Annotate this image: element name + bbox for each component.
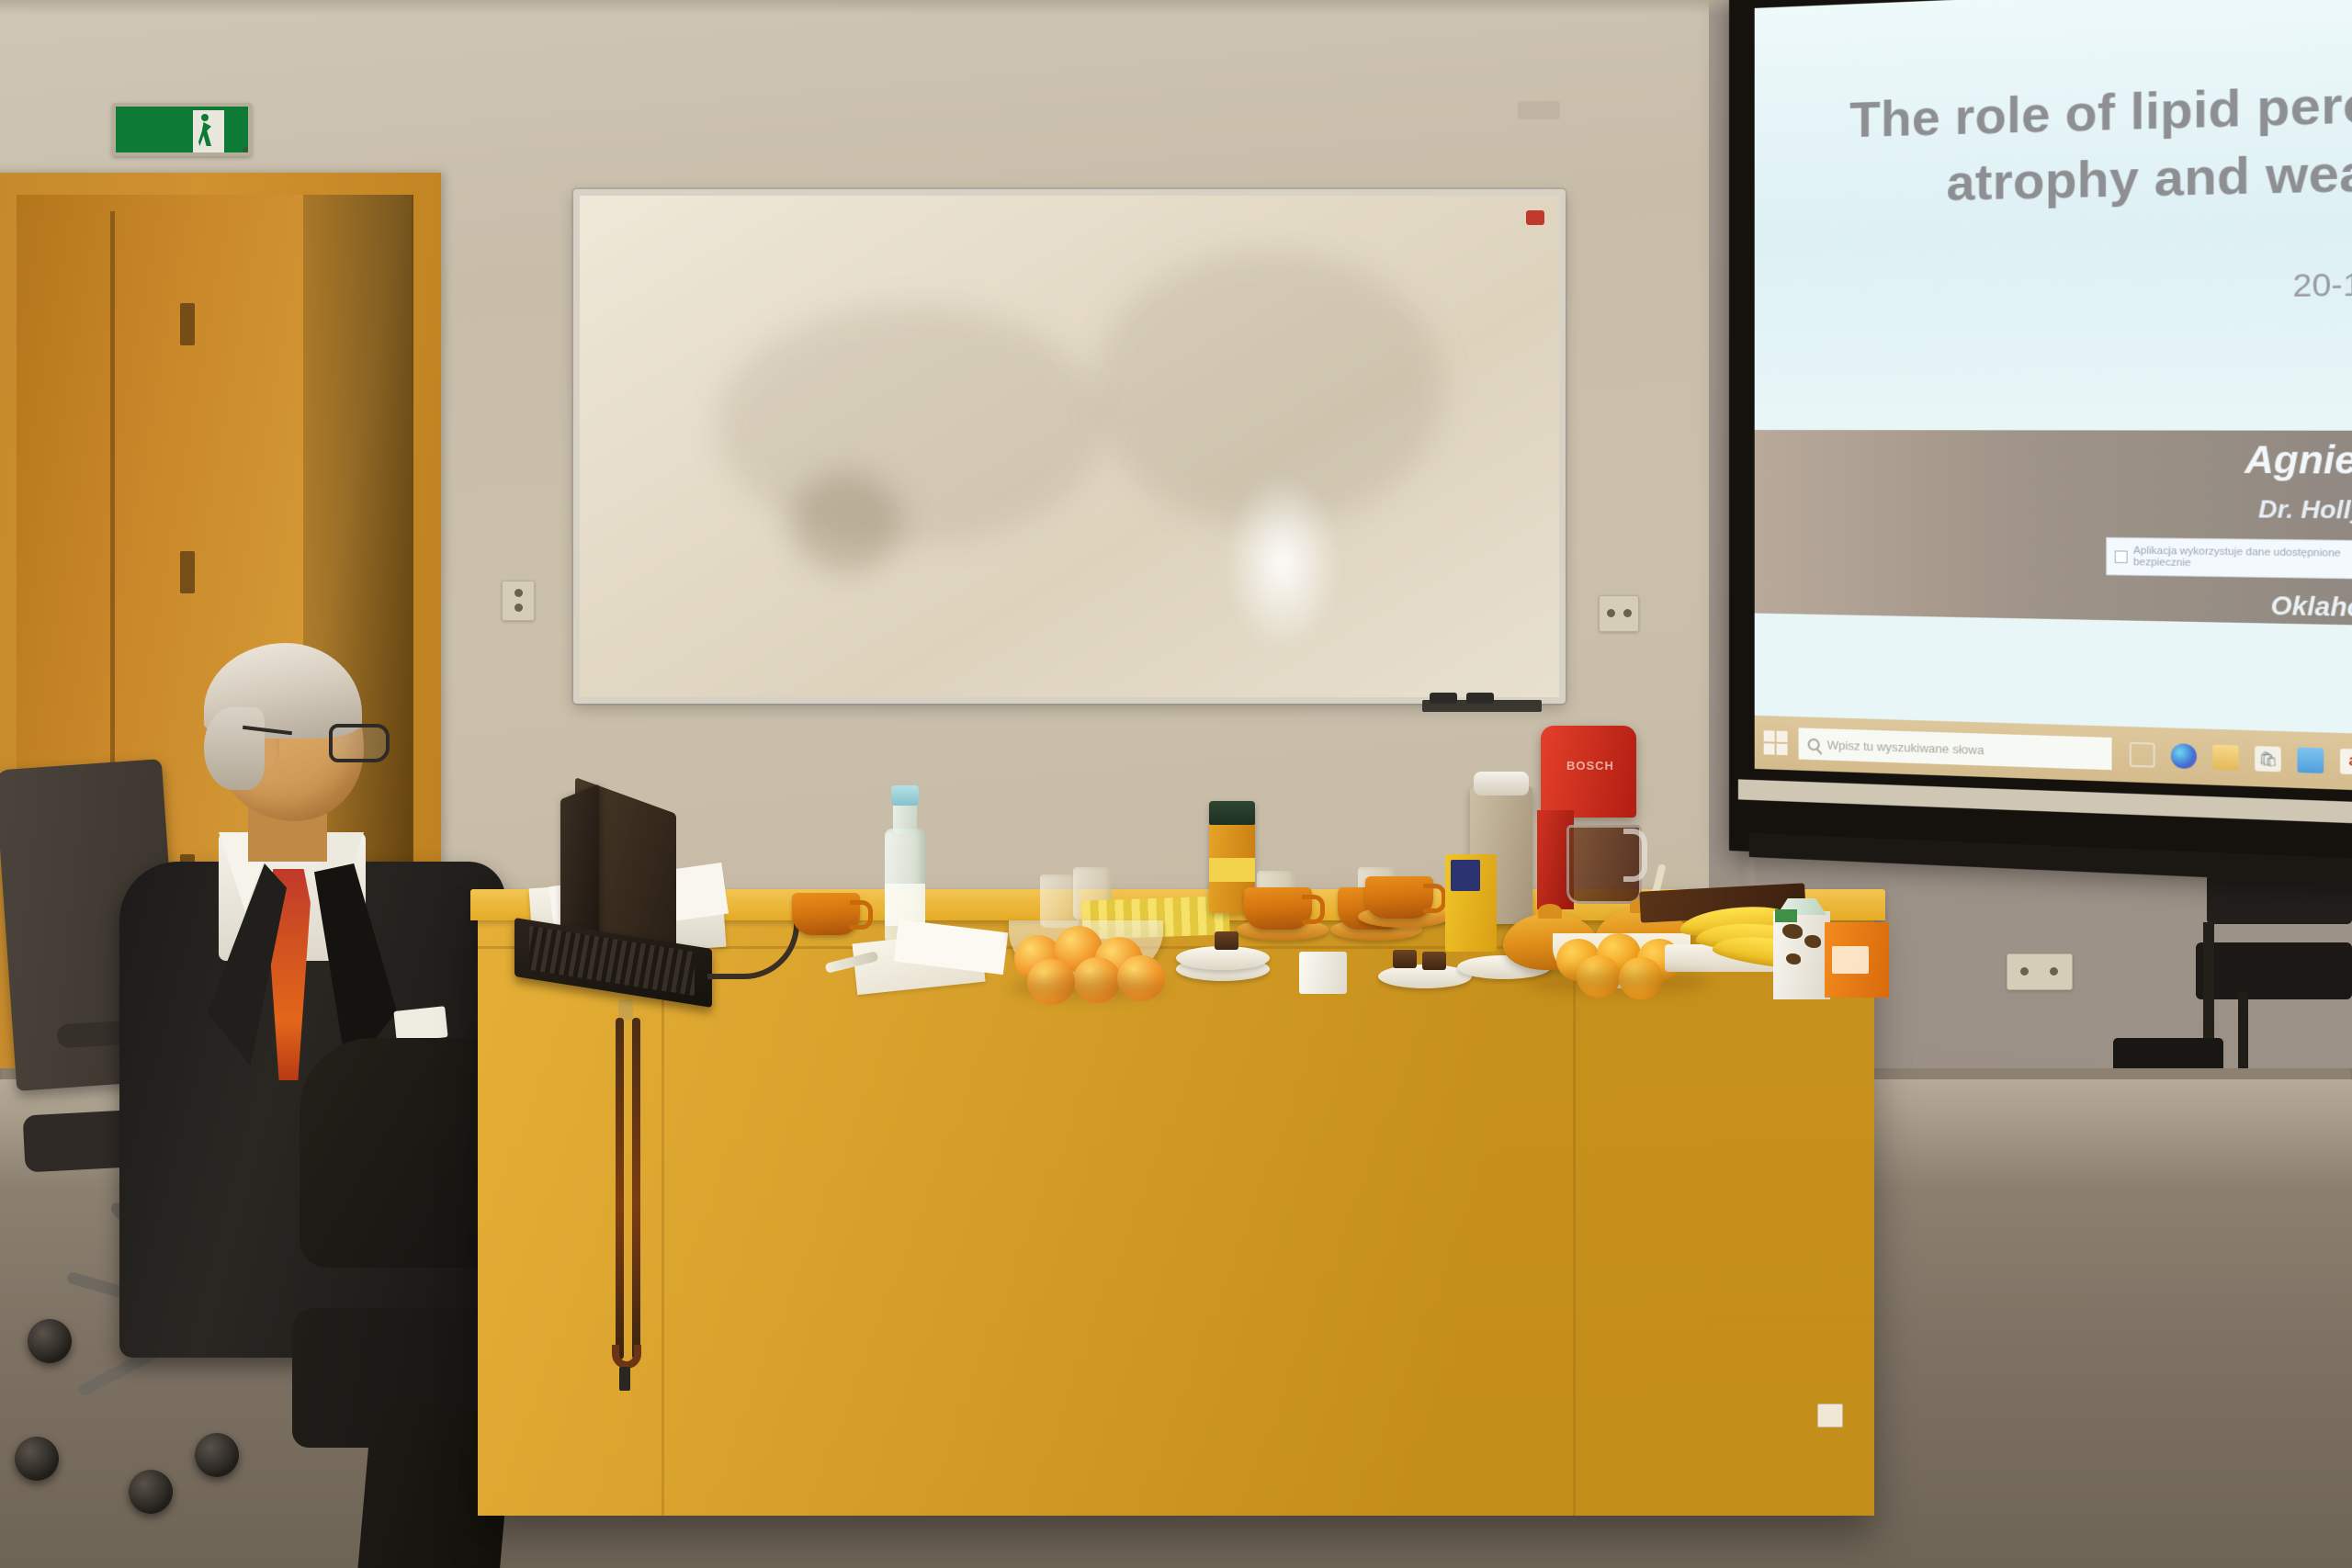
cortana-icon[interactable]: [2171, 743, 2197, 769]
wall-vent: [1518, 101, 1560, 119]
chair-caster-1: [15, 1437, 59, 1481]
consent-popup[interactable]: Aplikacja wykorzystuje dane udostępnione…: [2106, 537, 2352, 581]
wall-socket-far-right[interactable]: [2007, 953, 2073, 990]
coffee-cup-1[interactable]: [1244, 887, 1312, 930]
creamer-portions[interactable]: [1299, 952, 1347, 994]
whiteboard-stain: [791, 471, 901, 572]
lanyard-badge: [619, 1367, 630, 1391]
slide-title: The role of lipid peroxidat atrophy and …: [1810, 64, 2352, 219]
juice-carton[interactable]: [1825, 922, 1889, 998]
chocolate-2[interactable]: [1393, 950, 1417, 968]
task-view-icon[interactable]: [2130, 742, 2155, 768]
search-icon: [1808, 738, 1820, 750]
bottle-cap[interactable]: [891, 785, 919, 806]
cow-spot-2: [1804, 935, 1821, 948]
lanyard-loop: [612, 1345, 641, 1369]
marker-icon[interactable]: [1430, 693, 1457, 704]
glasses-lens: [329, 724, 390, 762]
chocolate-1[interactable]: [1215, 931, 1238, 950]
start-icon[interactable]: [1764, 730, 1788, 755]
search-input[interactable]: Wpisz tu wyszukiwane słowa: [1799, 728, 2112, 770]
search-placeholder: Wpisz tu wyszukiwane słowa: [1827, 738, 1984, 757]
projection-screen: The role of lipid peroxidat atrophy and …: [1729, 0, 2352, 880]
shadow-fruitbowl: [1011, 976, 1167, 999]
presentation-slide: The role of lipid peroxidat atrophy and …: [1755, 0, 2352, 792]
shadow-teapots: [1525, 970, 1709, 994]
running-man-glyph: [197, 114, 217, 149]
door-hinge-top: [180, 303, 195, 345]
popup-message: Aplikacja wykorzystuje dane udostępnione…: [2133, 546, 2352, 572]
carafe-handle: [1623, 829, 1647, 882]
thermos-lid[interactable]: [1474, 772, 1529, 795]
lanyard-strap-left: [616, 1018, 624, 1359]
emergency-exit-icon: [112, 103, 252, 156]
lanyard-clip: [618, 999, 633, 1020]
snack-bag-logo: [1451, 860, 1480, 891]
lanyard-strap-right: [632, 1018, 640, 1359]
jam-jar-label: [1209, 858, 1255, 882]
acrobat-icon[interactable]: a: [2340, 749, 2352, 775]
lanyard[interactable]: [606, 994, 649, 1380]
hair-side: [204, 707, 265, 790]
screen-surface: The role of lipid peroxidat atrophy and …: [1755, 0, 2352, 792]
cow-spot-3: [1786, 953, 1801, 964]
slide-organization: Oklahoma Medical Resea: [2271, 591, 2352, 627]
marker-icon-2[interactable]: [1466, 693, 1494, 704]
seminar-room-photo: The role of lipid peroxidat atrophy and …: [0, 0, 2352, 1568]
table-seam-1: [661, 946, 664, 1516]
whiteboard-smudge: [718, 306, 1103, 545]
coffee-maker[interactable]: BOSCH: [1528, 726, 1636, 909]
slide-author-name: Agnieszka Czy: [2245, 440, 2352, 485]
snack-bag[interactable]: [1445, 854, 1497, 952]
eyeglasses-icon: [287, 722, 397, 766]
jam-jar-lid[interactable]: [1209, 801, 1255, 825]
teapot-1-lid: [1538, 904, 1562, 919]
chocolate-3[interactable]: [1422, 952, 1446, 970]
coffee-cup-0[interactable]: [792, 893, 860, 935]
microsoft-store-icon[interactable]: [2255, 746, 2281, 772]
cow-spot-1: [1782, 924, 1803, 939]
slide-date: 20-11-202: [2292, 265, 2352, 306]
coffee-cup-3[interactable]: [1365, 876, 1433, 919]
whiteboard-glare: [1223, 471, 1342, 655]
whiteboard: [573, 189, 1566, 704]
taskbar-icon-group: a: [2130, 742, 2352, 775]
door-hinge-mid: [180, 551, 195, 593]
milk-carton[interactable]: [1773, 911, 1830, 999]
table-seam-2: [1573, 946, 1576, 1516]
pocket-square: [393, 1006, 447, 1043]
magnet-icon[interactable]: [1526, 210, 1544, 225]
chair-caster-4: [28, 1319, 72, 1363]
wall-socket-right[interactable]: [1599, 595, 1639, 632]
juice-carton-label: [1832, 946, 1869, 974]
coffee-maker-brand: BOSCH: [1566, 759, 1614, 773]
wall-socket-left[interactable]: [502, 581, 535, 621]
mail-icon[interactable]: [2297, 747, 2324, 773]
slide-supervisor: Dr. Holly Van Remmen: [2258, 495, 2352, 528]
inventory-sticker: [1817, 1404, 1843, 1427]
file-explorer-icon[interactable]: [2212, 745, 2238, 771]
exit-sign-led: [243, 147, 249, 153]
milk-carton-green-flap: [1775, 909, 1797, 922]
slide-author-band: Agnieszka Czy Dr. Holly Van Remmen Oklah…: [1755, 430, 2352, 626]
popup-checkbox[interactable]: [2115, 550, 2128, 563]
